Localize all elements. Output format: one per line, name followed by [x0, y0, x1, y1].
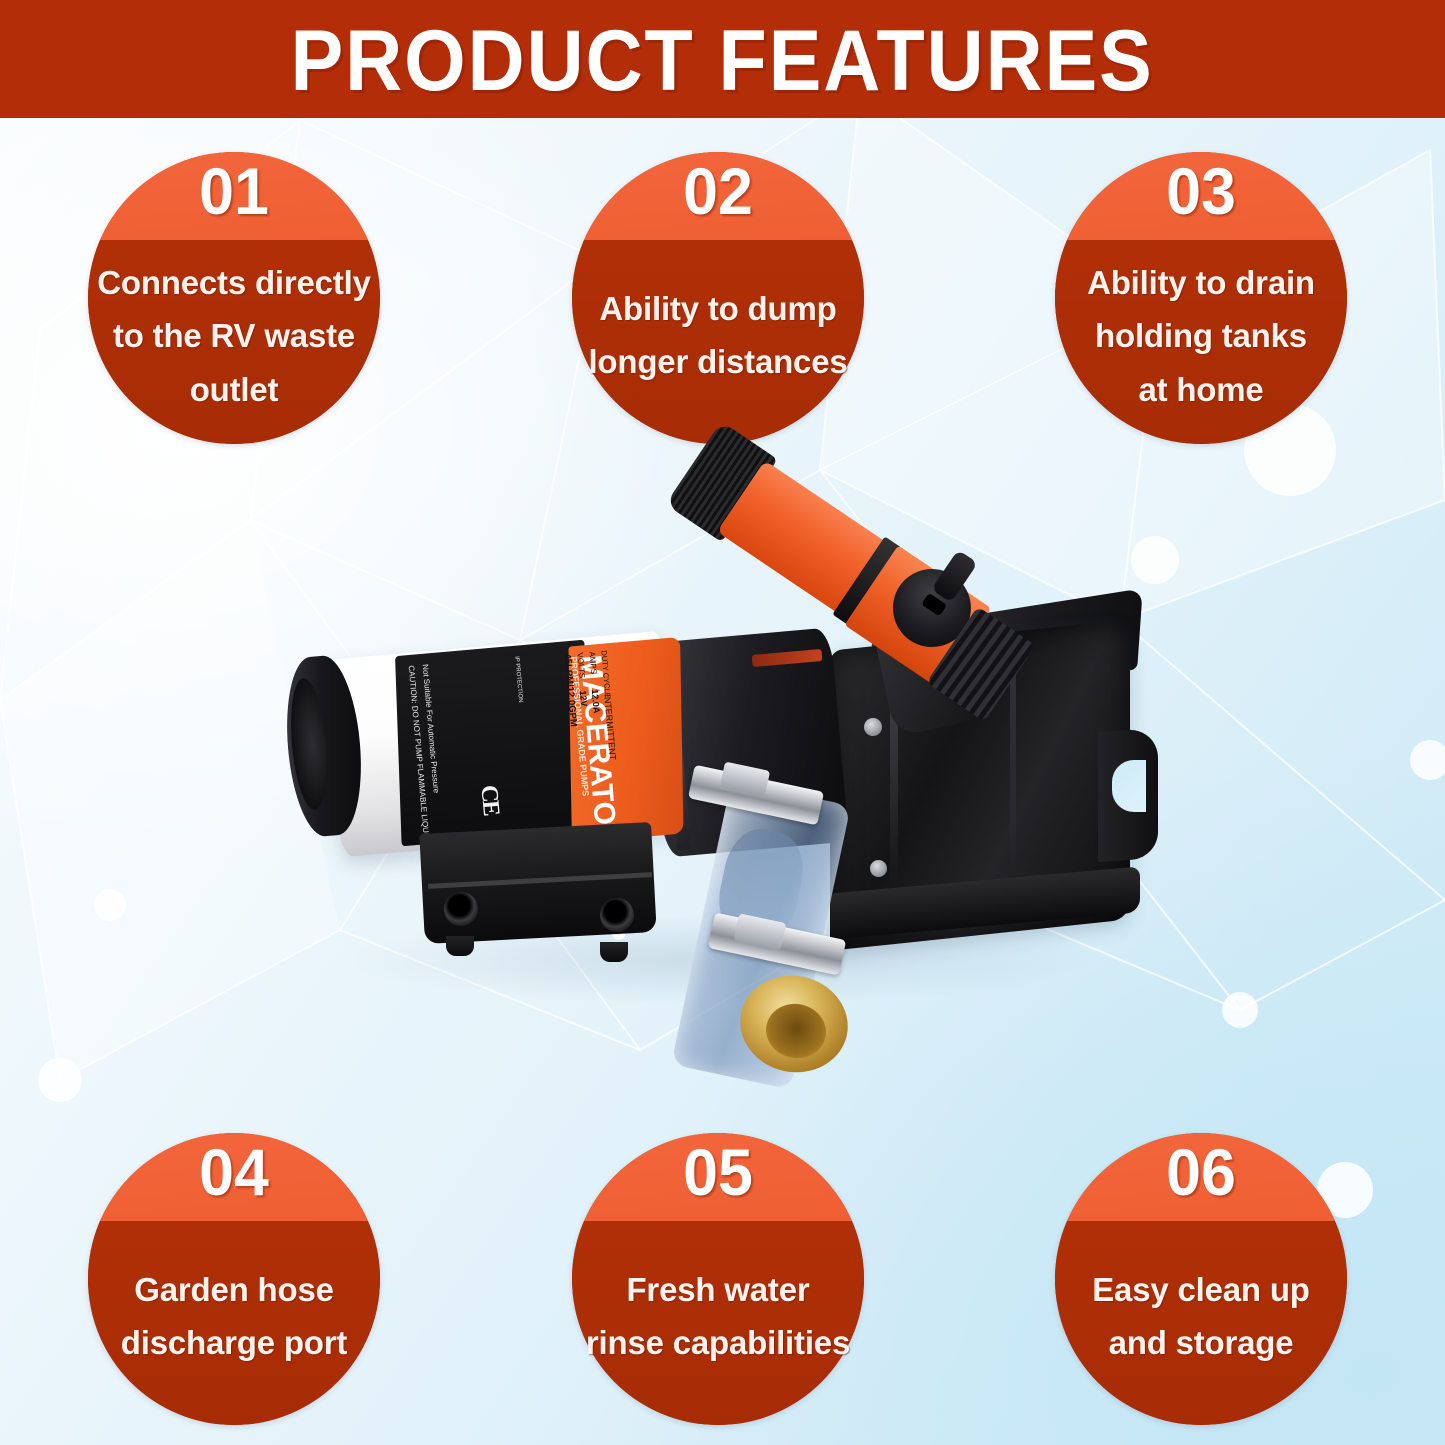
feature-text-06-line-1: Easy clean up [1033, 1263, 1369, 1316]
feature-number-03: 03 [1062, 158, 1339, 224]
mounting-hole-right [600, 898, 634, 932]
feature-number-01: 01 [95, 158, 372, 224]
feature-text-01-line-2: to the RV waste [66, 309, 402, 362]
sewer-adapter-rib-2 [1010, 660, 1016, 901]
spec-volts-value: 12V [578, 690, 589, 707]
feature-text-04: Garden hose discharge port [66, 1263, 402, 1370]
spec-duty-value: INTERMITTENT [602, 694, 618, 761]
feature-circle-03: 03 Ability to drain holding tanks at hom… [1055, 152, 1347, 444]
feature-circle-04: 04 Garden hose discharge port [88, 1133, 380, 1425]
ce-mark-icon: CE [471, 784, 508, 816]
feature-text-03: Ability to drain holding tanks at home [1033, 256, 1369, 416]
feature-text-01-line-3: outlet [66, 363, 402, 416]
sewer-adapter-hook-notch [1112, 760, 1146, 812]
feature-circle-05: 05 Fresh water rinse capabilities [572, 1133, 864, 1425]
feature-text-03-line-3: at home [1033, 363, 1369, 416]
spec-duty-label: DUTY CYCLE [599, 650, 612, 698]
mounting-foot-right [600, 942, 628, 962]
feature-text-04-line-1: Garden hose [66, 1263, 402, 1316]
feature-text-04-line-2: discharge port [66, 1316, 402, 1369]
feature-circle-06: 06 Easy clean up and storage [1055, 1133, 1347, 1425]
page-title: PRODUCT FEATURES [291, 14, 1154, 104]
feature-text-03-line-1: Ability to drain [1033, 256, 1369, 309]
adapter-bolt-lower [870, 860, 887, 877]
feature-text-06: Easy clean up and storage [1033, 1263, 1369, 1370]
mounting-foot-left [446, 936, 474, 956]
feature-text-02-line-1: Ability to dump [550, 282, 886, 335]
spec-amps-value: 12.0A [590, 689, 602, 714]
product-features-infographic: PRODUCT FEATURES 01 Connects directly to… [0, 0, 1445, 1445]
feature-text-05-line-1: Fresh water [550, 1263, 886, 1316]
adapter-bolt-upper [864, 718, 882, 736]
feature-number-06: 06 [1062, 1139, 1339, 1205]
feature-text-03-line-2: holding tanks [1033, 309, 1369, 362]
product-photo-macerator-pump: CAUTION: DO NOT PUMP FLAMMABLE LIQUIDS N… [270, 460, 1180, 1110]
feature-text-02: Ability to dump longer distances [550, 282, 886, 389]
header-bar: PRODUCT FEATURES [0, 0, 1445, 118]
feature-text-02-line-2: longer distances [550, 335, 886, 388]
spec-amps-label: AMPS [587, 651, 598, 674]
feature-text-05-line-2: rinse capabilities [550, 1316, 886, 1369]
mounting-hole-left [444, 892, 478, 926]
feature-number-02: 02 [579, 158, 856, 224]
feature-text-05: Fresh water rinse capabilities [550, 1263, 886, 1370]
feature-circle-01: 01 Connects directly to the RV waste out… [88, 152, 380, 444]
feature-number-05: 05 [579, 1139, 856, 1205]
feature-number-04: 04 [95, 1139, 372, 1205]
feature-text-01: Connects directly to the RV waste outlet [66, 256, 402, 416]
feature-text-01-line-1: Connects directly [66, 256, 402, 309]
spec-volts-label: VOLTS [575, 652, 586, 678]
feature-circle-02: 02 Ability to dump longer distances [572, 152, 864, 444]
label-protection-text: IP PROTECTION [512, 656, 525, 703]
feature-text-06-line-2: and storage [1033, 1316, 1369, 1369]
